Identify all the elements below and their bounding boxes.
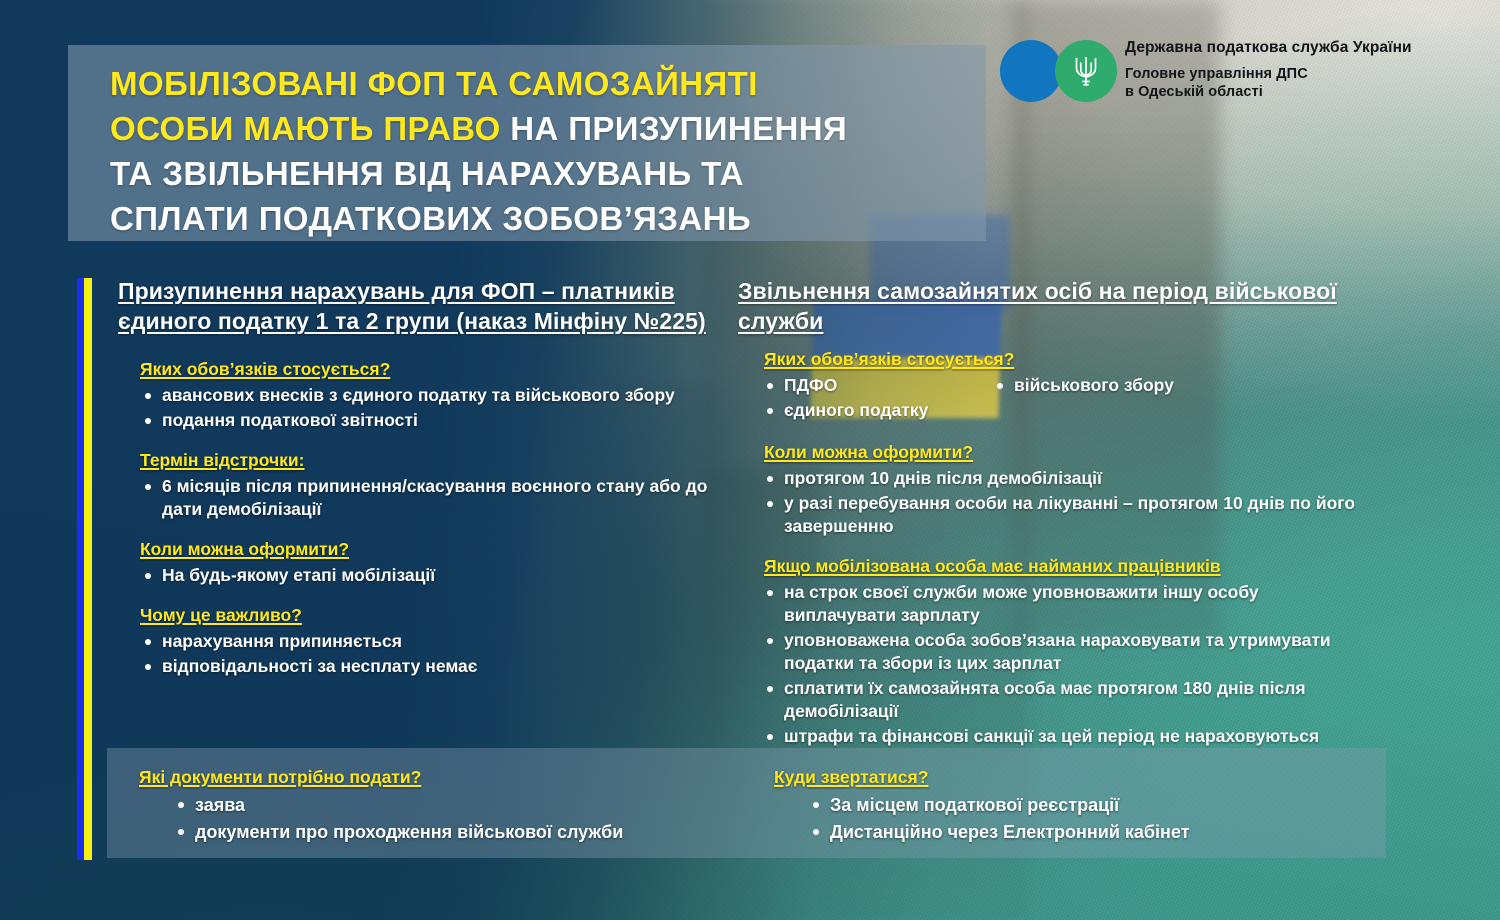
title-line-1: МОБІЛІЗОВАНІ ФОП ТА САМОЗАЙНЯТІ <box>110 61 986 106</box>
left-block-3-subhead: Чому це важливо? <box>140 604 730 627</box>
title-line-4-part-1: СПЛАТИ ПОДАТКОВИХ ЗОБОВ’ЯЗАНЬ <box>110 200 751 237</box>
list-item: у разі перебування особи на лікуванні – … <box>784 492 1358 538</box>
list-item: ПДФО <box>784 374 988 397</box>
accent-bar-yellow <box>84 278 92 860</box>
logo-organization: Державна податкова служба України <box>1125 38 1412 58</box>
title-line-3-part-1: ТА ЗВІЛЬНЕННЯ ВІД НАРАХУВАНЬ ТА <box>110 155 744 192</box>
list-item: єдиного податку <box>784 399 988 422</box>
list-item: штрафи та фінансові санкції за цей періо… <box>784 725 1358 748</box>
bottom-panel-inner: Які документи потрібно подати? заява док… <box>107 748 1386 858</box>
bottom-documents-section: Які документи потрібно подати? заява док… <box>107 748 752 858</box>
left-block-0-bullets: авансових внесків з єдиного податку та в… <box>110 384 730 432</box>
right-block-0-subhead: Коли можна оформити? <box>764 441 1358 464</box>
logo-department: Головне управління ДПС в Одеській област… <box>1125 65 1412 101</box>
infographic-poster: МОБІЛІЗОВАНІ ФОП ТА САМОЗАЙНЯТІ ОСОБИ МА… <box>0 0 1500 920</box>
title-line-4: СПЛАТИ ПОДАТКОВИХ ЗОБОВ’ЯЗАНЬ <box>110 196 986 241</box>
title-line-2-part-2: НА ПРИЗУПИНЕННЯ <box>510 110 847 147</box>
list-item: Дистанційно через Електронний кабінет <box>830 820 1386 845</box>
list-item: заява <box>195 793 752 818</box>
list-item: уповноважена особа зобов’язана нараховув… <box>784 629 1358 675</box>
right-dual-bullets: ПДФО єдиного податку військового збору <box>738 371 1358 424</box>
left-block-0: Яких обов’язків стосується? авансових вн… <box>110 358 730 432</box>
list-item: 6 місяців після припинення/скасування во… <box>162 475 730 521</box>
title-panel: МОБІЛІЗОВАНІ ФОП ТА САМОЗАЙНЯТІ ОСОБИ МА… <box>68 45 986 241</box>
right-dual-block: Яких обов’язків стосується? ПДФО єдиного… <box>738 348 1358 424</box>
list-item: нарахування припиняється <box>162 630 730 653</box>
title-line-2-part-1: ОСОБИ МАЮТЬ ПРАВО <box>110 110 510 147</box>
left-block-0-subhead: Яких обов’язків стосується? <box>140 358 730 381</box>
left-block-1-subhead: Термін відстрочки: <box>140 449 730 472</box>
green-circle-icon <box>1055 40 1117 102</box>
logo-department-line-1: Головне управління ДПС <box>1125 65 1412 83</box>
list-item: відповідальності за несплату немає <box>162 655 730 678</box>
right-block-1-bullets: на строк своєї служби може уповноважити … <box>738 581 1358 748</box>
list-item: документи про проходження військової слу… <box>195 820 752 845</box>
left-block-3: Чому це важливо? нарахування припиняєтьс… <box>110 604 730 678</box>
left-block-3-bullets: нарахування припиняється відповідальност… <box>110 630 730 678</box>
bottom-documents-bullets: заява документи про проходження військов… <box>139 793 752 845</box>
left-block-1-bullets: 6 місяців після припинення/скасування во… <box>110 475 730 521</box>
left-column: Призупинення нарахувань для ФОП – платни… <box>110 276 730 680</box>
right-block-1-subhead: Якщо мобілізована особа має найманих пра… <box>764 555 1358 578</box>
right-block-1: Якщо мобілізована особа має найманих пра… <box>738 555 1358 748</box>
bottom-contact-section: Куди звертатися? За місцем податкової ре… <box>752 748 1386 858</box>
list-item: військового збору <box>1014 374 1358 397</box>
list-item: протягом 10 днів після демобілізації <box>784 467 1358 490</box>
agency-logo: Державна податкова служба України Головн… <box>1000 36 1412 106</box>
left-block-2-subhead: Коли можна оформити? <box>140 538 730 561</box>
left-block-1: Термін відстрочки: 6 місяців після припи… <box>110 449 730 521</box>
list-item: За місцем податкової реєстрації <box>830 793 1386 818</box>
left-block-2: Коли можна оформити? На будь-якому етапі… <box>110 538 730 587</box>
accent-bar-blue <box>77 278 84 860</box>
right-dual-block-subhead: Яких обов’язків стосується? <box>764 348 1358 371</box>
title-line-2: ОСОБИ МАЮТЬ ПРАВО НА ПРИЗУПИНЕННЯ <box>110 106 986 151</box>
list-item: подання податкової звітності <box>162 409 730 432</box>
logo-department-line-2: в Одеській області <box>1125 83 1412 101</box>
right-column: Звільнення самозайнятих осіб на період в… <box>738 276 1358 750</box>
flag-accent-bar <box>77 278 92 860</box>
right-block-0-bullets: протягом 10 днів після демобілізації у р… <box>738 467 1358 538</box>
title-line-1-part-1: МОБІЛІЗОВАНІ ФОП ТА САМОЗАЙНЯТІ <box>110 65 758 102</box>
list-item: На будь-якому етапі мобілізації <box>162 564 730 587</box>
right-dual-bullets-right: військового збору <box>988 371 1358 424</box>
list-item: авансових внесків з єдиного податку та в… <box>162 384 730 407</box>
bottom-contact-bullets: За місцем податкової реєстрації Дистанці… <box>774 793 1386 845</box>
left-block-2-bullets: На будь-якому етапі мобілізації <box>110 564 730 587</box>
list-item: на строк своєї служби може уповноважити … <box>784 581 1358 627</box>
trident-icon <box>1071 53 1101 89</box>
right-dual-bullets-left: ПДФО єдиного податку <box>738 371 988 424</box>
left-column-heading: Призупинення нарахувань для ФОП – платни… <box>110 276 730 336</box>
logo-text: Державна податкова служба України Головн… <box>1125 36 1412 101</box>
bottom-documents-subhead: Які документи потрібно подати? <box>139 766 752 789</box>
list-item: сплатити їх самозайнята особа має протяг… <box>784 677 1358 723</box>
bottom-panel: Які документи потрібно подати? заява док… <box>107 748 1386 858</box>
title-line-3: ТА ЗВІЛЬНЕННЯ ВІД НАРАХУВАНЬ ТА <box>110 151 986 196</box>
right-block-0: Коли можна оформити? протягом 10 днів пі… <box>738 441 1358 538</box>
right-column-heading: Звільнення самозайнятих осіб на період в… <box>738 276 1358 336</box>
blue-circle-icon <box>1000 40 1062 102</box>
logo-marks <box>1000 36 1125 106</box>
bottom-contact-subhead: Куди звертатися? <box>774 766 1386 789</box>
